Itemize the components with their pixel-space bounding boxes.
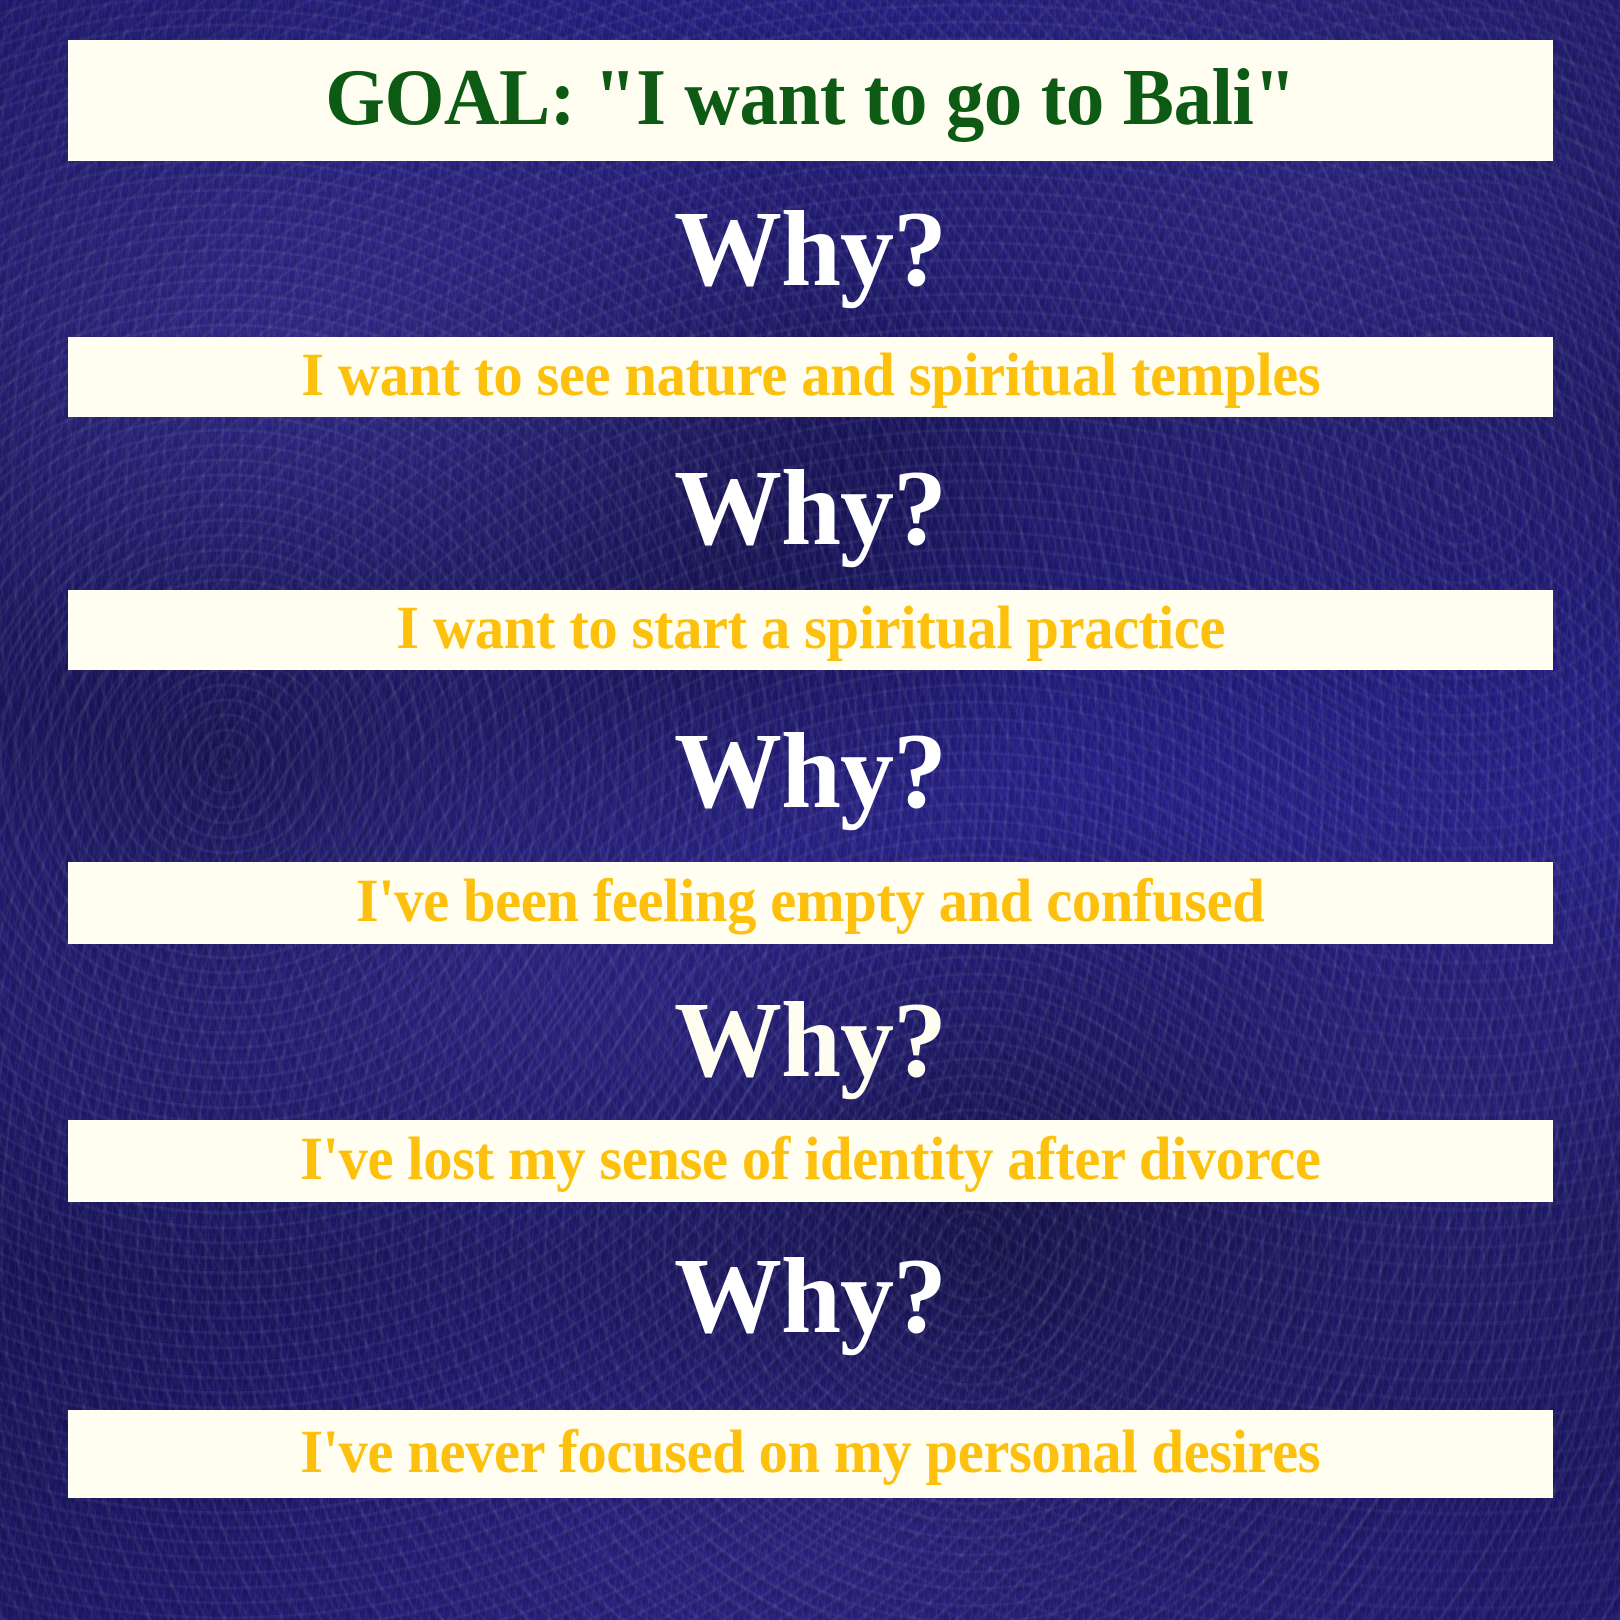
content-stack: GOAL: "I want to go to Bali" Why? I want… [0,0,1620,1620]
why-prompt-1: Why? [0,196,1620,304]
answer-banner-4: I've lost my sense of identity after div… [68,1120,1553,1202]
answer-text-4: I've lost my sense of identity after div… [300,1129,1320,1193]
answer-banner-5: I've never focused on my personal desire… [68,1410,1553,1498]
why-prompt-4: Why? [0,987,1620,1095]
answer-banner-2: I want to start a spiritual practice [68,590,1553,670]
answer-text-5: I've never focused on my personal desire… [301,1422,1321,1486]
goal-title: GOAL: "I want to go to Bali" [325,58,1296,144]
why-prompt-3: Why? [0,718,1620,826]
answer-text-2: I want to start a spiritual practice [396,598,1225,662]
answer-text-1: I want to see nature and spiritual templ… [301,345,1320,409]
goal-banner: GOAL: "I want to go to Bali" [68,40,1553,161]
answer-text-3: I've been feeling empty and confused [356,871,1265,935]
answer-banner-3: I've been feeling empty and confused [68,862,1553,944]
answer-banner-1: I want to see nature and spiritual templ… [68,337,1553,417]
why-prompt-2: Why? [0,455,1620,563]
poster-canvas: GOAL: "I want to go to Bali" Why? I want… [0,0,1620,1620]
why-prompt-5: Why? [0,1243,1620,1351]
